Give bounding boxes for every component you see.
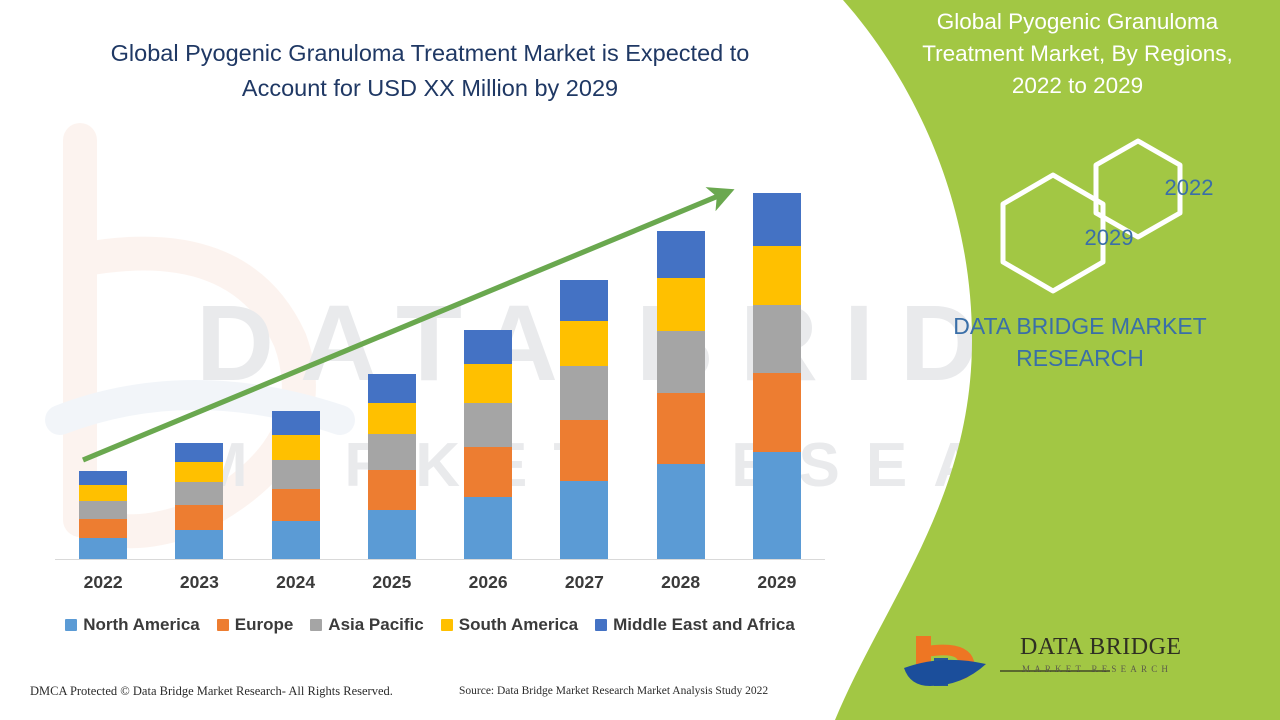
panel-title: Global Pyogenic Granuloma Treatment Mark… bbox=[900, 6, 1255, 102]
page-title: Global Pyogenic Granuloma Treatment Mark… bbox=[70, 36, 790, 106]
bar-2029 bbox=[753, 193, 801, 560]
x-axis-tick-2026: 2026 bbox=[443, 572, 533, 593]
legend-swatch-icon bbox=[217, 619, 229, 631]
bar-segment bbox=[464, 330, 512, 364]
x-axis-tick-2022: 2022 bbox=[58, 572, 148, 593]
legend-item-middle-east-and-africa[interactable]: Middle East and Africa bbox=[595, 615, 795, 635]
bar-segment bbox=[464, 497, 512, 560]
x-axis-labels: 20222023202420252026202720282029 bbox=[55, 572, 825, 600]
chart-panel: Global Pyogenic Granuloma Treatment Mark… bbox=[0, 0, 860, 720]
bar-segment bbox=[272, 521, 320, 560]
legend-label: Asia Pacific bbox=[328, 615, 423, 635]
hexagon-2022-label: 2022 bbox=[1149, 175, 1229, 201]
brand-name: DATA BRIDGE MARKET RESEARCH bbox=[895, 310, 1265, 374]
bar-segment bbox=[368, 510, 416, 560]
legend-item-asia-pacific[interactable]: Asia Pacific bbox=[310, 615, 423, 635]
bar-segment bbox=[272, 489, 320, 521]
bar-2026 bbox=[464, 330, 512, 560]
bar-segment bbox=[657, 278, 705, 331]
legend-swatch-icon bbox=[441, 619, 453, 631]
legend-item-south-america[interactable]: South America bbox=[441, 615, 578, 635]
bar-segment bbox=[657, 464, 705, 560]
x-axis-tick-2025: 2025 bbox=[347, 572, 437, 593]
axis-baseline bbox=[55, 559, 825, 560]
bar-segment bbox=[175, 530, 223, 560]
source-notice: Source: Data Bridge Market Research Mark… bbox=[459, 685, 768, 697]
bar-segment bbox=[560, 420, 608, 481]
bar-segment bbox=[560, 481, 608, 560]
right-panel-content: Global Pyogenic Granuloma Treatment Mark… bbox=[900, 0, 1280, 720]
bar-segment bbox=[657, 231, 705, 278]
bar-2024 bbox=[272, 411, 320, 560]
bar-segment bbox=[79, 501, 127, 519]
bar-segment bbox=[464, 364, 512, 403]
x-axis-tick-2027: 2027 bbox=[539, 572, 629, 593]
bar-segment bbox=[272, 460, 320, 489]
bar-segment bbox=[560, 366, 608, 419]
infographic-slide: DATA BRIDGE MARKET RESEARCH Global Pyoge… bbox=[0, 0, 1280, 720]
bar-2022 bbox=[79, 471, 127, 560]
bar-segment bbox=[272, 411, 320, 434]
bar-segment bbox=[175, 482, 223, 505]
legend-label: South America bbox=[459, 615, 578, 635]
hexagon-2029-label: 2029 bbox=[1069, 225, 1149, 251]
bar-segment bbox=[753, 305, 801, 373]
bar-segment bbox=[79, 485, 127, 501]
x-axis-tick-2029: 2029 bbox=[732, 572, 822, 593]
bar-segment bbox=[368, 434, 416, 470]
bar-2028 bbox=[657, 231, 705, 560]
bar-2023 bbox=[175, 443, 223, 560]
bar-segment bbox=[175, 443, 223, 462]
bar-segment bbox=[79, 538, 127, 560]
logo-subwordmark: MARKET RESEARCH bbox=[1022, 664, 1172, 674]
bar-segment bbox=[657, 331, 705, 392]
bar-segment bbox=[657, 393, 705, 464]
legend-label: North America bbox=[83, 615, 200, 635]
bar-segment bbox=[464, 447, 512, 497]
hexagon-shapes-icon bbox=[975, 133, 1205, 298]
copyright-notice: DMCA Protected © Data Bridge Market Rese… bbox=[30, 684, 393, 699]
bar-segment bbox=[560, 280, 608, 321]
bar-segment bbox=[175, 505, 223, 530]
bar-segment bbox=[753, 193, 801, 246]
logo-wordmark: DATA BRIDGE bbox=[1020, 634, 1182, 661]
legend-label: Europe bbox=[235, 615, 294, 635]
bar-segment bbox=[175, 462, 223, 482]
bar-segment bbox=[368, 403, 416, 435]
x-axis-tick-2028: 2028 bbox=[636, 572, 726, 593]
legend-item-europe[interactable]: Europe bbox=[217, 615, 294, 635]
x-axis-tick-2023: 2023 bbox=[154, 572, 244, 593]
legend-swatch-icon bbox=[65, 619, 77, 631]
bar-segment bbox=[753, 452, 801, 560]
bar-segment bbox=[368, 374, 416, 403]
bar-segment bbox=[272, 435, 320, 461]
bar-2025 bbox=[368, 374, 416, 560]
bar-segment bbox=[560, 321, 608, 367]
legend-swatch-icon bbox=[310, 619, 322, 631]
bar-segment bbox=[79, 471, 127, 486]
bar-segment bbox=[368, 470, 416, 510]
legend-item-north-america[interactable]: North America bbox=[65, 615, 200, 635]
hexagon-group: 2022 2029 bbox=[975, 133, 1205, 298]
legend-label: Middle East and Africa bbox=[613, 615, 795, 635]
legend-swatch-icon bbox=[595, 619, 607, 631]
stacked-bar-plot bbox=[55, 150, 825, 560]
bar-segment bbox=[464, 403, 512, 447]
chart-legend: North AmericaEuropeAsia PacificSouth Ame… bbox=[0, 615, 860, 635]
x-axis-tick-2024: 2024 bbox=[251, 572, 341, 593]
bar-segment bbox=[753, 246, 801, 305]
bar-2027 bbox=[560, 280, 608, 560]
bar-segment bbox=[753, 373, 801, 452]
bar-segment bbox=[79, 519, 127, 538]
